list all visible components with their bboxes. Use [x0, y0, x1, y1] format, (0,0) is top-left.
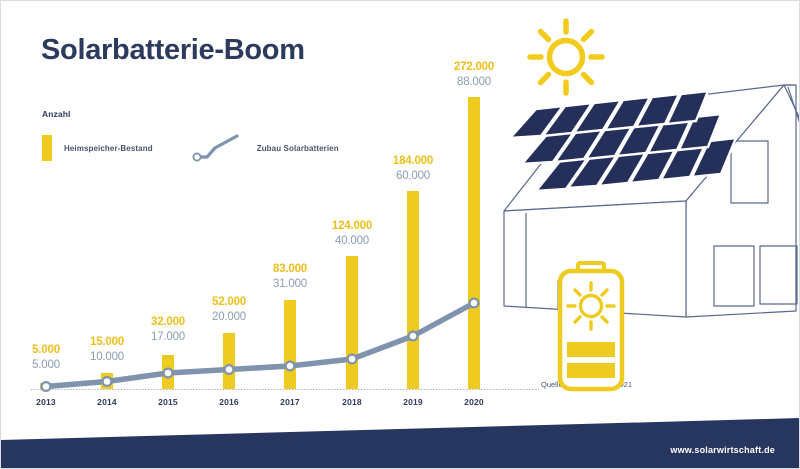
line-marker-2020: [470, 299, 479, 308]
bar-value-label-2018: 124.000: [317, 220, 387, 232]
x-axis-tick-2020: 2020: [444, 397, 504, 407]
line-marker-2014: [103, 377, 112, 386]
line-marker-2016: [225, 365, 234, 374]
bar-value-label-2017: 83.000: [255, 263, 325, 275]
line-value-label-2017: 31.000: [255, 278, 325, 290]
bar-value-label-2019: 184.000: [378, 155, 448, 167]
x-axis-tick-2017: 2017: [260, 397, 320, 407]
footer-website-url: www.solarwirtschaft.de: [670, 445, 775, 455]
x-axis-tick-2016: 2016: [199, 397, 259, 407]
line-marker-2013: [42, 382, 51, 391]
line-marker-2017: [286, 362, 295, 371]
line-value-label-2013: 5.000: [11, 359, 81, 371]
line-value-label-2016: 20.000: [194, 311, 264, 323]
illustration-group: [496, 1, 800, 401]
x-axis-tick-2014: 2014: [77, 397, 137, 407]
line-value-label-2015: 17.000: [133, 331, 203, 343]
bar-value-label-2014: 15.000: [72, 336, 142, 348]
x-axis-tick-2013: 2013: [16, 397, 76, 407]
line-value-label-2014: 10.000: [72, 351, 142, 363]
solar-battery-icon: [560, 263, 622, 389]
x-axis-tick-2019: 2019: [383, 397, 443, 407]
infographic-canvas: Solarbatterie-Boom Anzahl Heimspeicher-B…: [0, 0, 800, 469]
footer-band: [1, 418, 800, 468]
line-value-label-2018: 40.000: [317, 235, 387, 247]
line-marker-2018: [348, 355, 357, 364]
bar-value-label-2013: 5.000: [11, 344, 81, 356]
line-marker-2019: [409, 332, 418, 341]
bar-value-label-2015: 32.000: [133, 316, 203, 328]
bar-value-label-2016: 52.000: [194, 296, 264, 308]
chart-plot-area: 5.000 15.000 32.000 52.000 83.000 124.00…: [1, 1, 541, 421]
sun-icon: [530, 21, 602, 93]
x-axis-tick-2015: 2015: [138, 397, 198, 407]
x-axis-tick-2018: 2018: [322, 397, 382, 407]
line-value-label-2019: 60.000: [378, 170, 448, 182]
line-marker-2015: [164, 369, 173, 378]
